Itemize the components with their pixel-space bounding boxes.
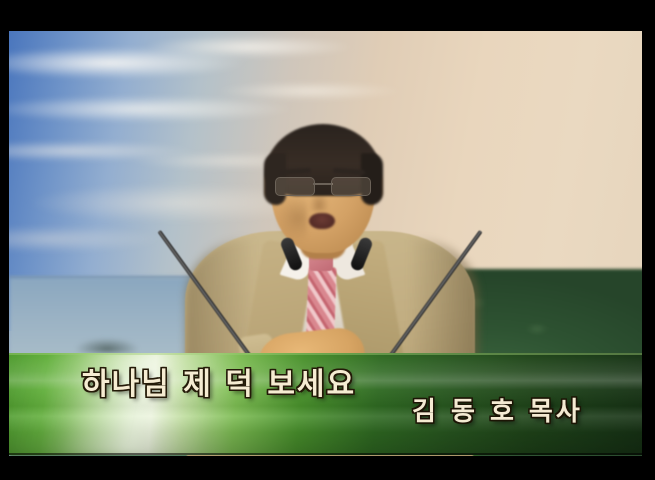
glasses-lens-left <box>275 177 315 196</box>
speaker-mouth <box>309 213 335 229</box>
letterbox-bar-top <box>0 0 655 31</box>
video-player[interactable]: 하나님 제 덕 보세요 김 동 호 목사 <box>0 0 655 480</box>
letterbox-bar-right <box>642 0 655 480</box>
sermon-title-text: 하나님 제 덕 보세요 <box>82 359 356 403</box>
speaker-glasses <box>275 177 371 195</box>
banner-bottom-edge <box>9 453 642 455</box>
glasses-lens-right <box>331 177 371 196</box>
speaker-name-text: 김 동 호 목사 <box>412 391 583 428</box>
letterbox-bar-left <box>0 0 9 480</box>
letterbox-bar-bottom <box>0 456 655 480</box>
banner-top-edge <box>9 353 642 355</box>
glasses-bridge <box>313 183 333 185</box>
